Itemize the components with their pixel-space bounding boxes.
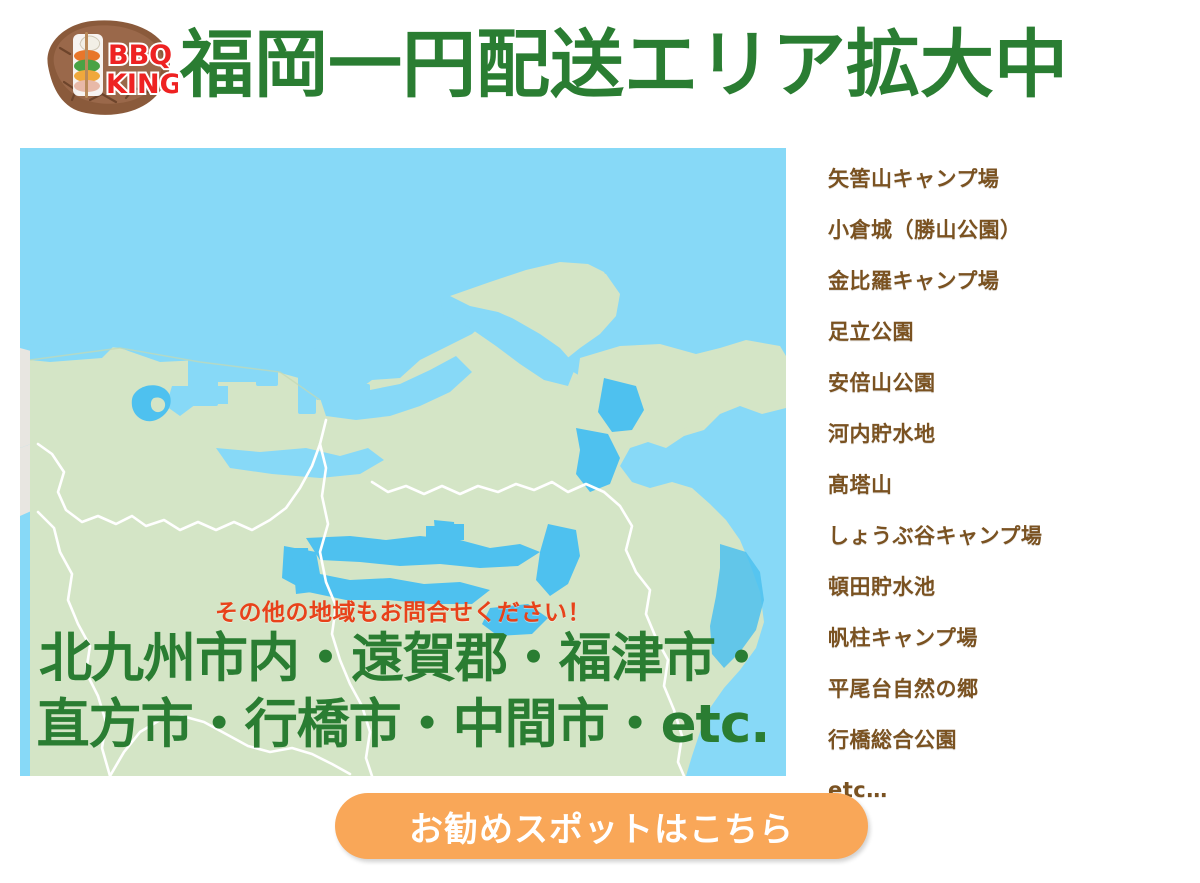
promo-banner: BBQ KING 福岡一円配送エリア拡大中: [0, 0, 1200, 883]
list-item: 安倍山公園: [828, 356, 1178, 407]
list-item: 足立公園: [828, 305, 1178, 356]
map-subtitle: その他の地域もお問合せください！: [20, 593, 786, 627]
delivery-area-text: 北九州市内・遠賀郡・福津市・ 直方市・行橋市・中間市・etc.: [20, 626, 786, 758]
list-item: 平尾台自然の郷: [828, 662, 1178, 713]
list-item: 小倉城（勝山公園）: [828, 203, 1178, 254]
list-item: 行橋総合公園: [828, 713, 1178, 764]
list-item: 頓田貯水池: [828, 560, 1178, 611]
delivery-area-map: その他の地域もお問合せください！ 北九州市内・遠賀郡・福津市・ 直方市・行橋市・…: [20, 148, 786, 776]
bbq-king-logo: BBQ KING: [30, 14, 178, 120]
list-item: etc…: [828, 764, 1178, 815]
list-item: 帆柱キャンプ場: [828, 611, 1178, 662]
banner-header: BBQ KING 福岡一円配送エリア拡大中: [0, 0, 1200, 135]
recommended-spots-button[interactable]: お勧めスポットはこちら: [335, 793, 868, 859]
list-item: しょうぶ谷キャンプ場: [828, 509, 1178, 560]
list-item: 河内貯水地: [828, 407, 1178, 458]
delivery-area-line-2: 直方市・行橋市・中間市・etc.: [20, 692, 786, 758]
list-item: 矢筈山キャンプ場: [828, 152, 1178, 203]
list-item: 髙塔山: [828, 458, 1178, 509]
page-title: 福岡一円配送エリア拡大中: [180, 17, 1068, 113]
logo-text-bbq: BBQ: [108, 40, 172, 71]
delivery-area-line-1: 北九州市内・遠賀郡・福津市・: [20, 626, 786, 692]
logo-text-king: KING: [106, 69, 178, 100]
recommended-spot-list: 矢筈山キャンプ場 小倉城（勝山公園） 金比羅キャンプ場 足立公園 安倍山公園 河…: [828, 152, 1178, 815]
list-item: 金比羅キャンプ場: [828, 254, 1178, 305]
